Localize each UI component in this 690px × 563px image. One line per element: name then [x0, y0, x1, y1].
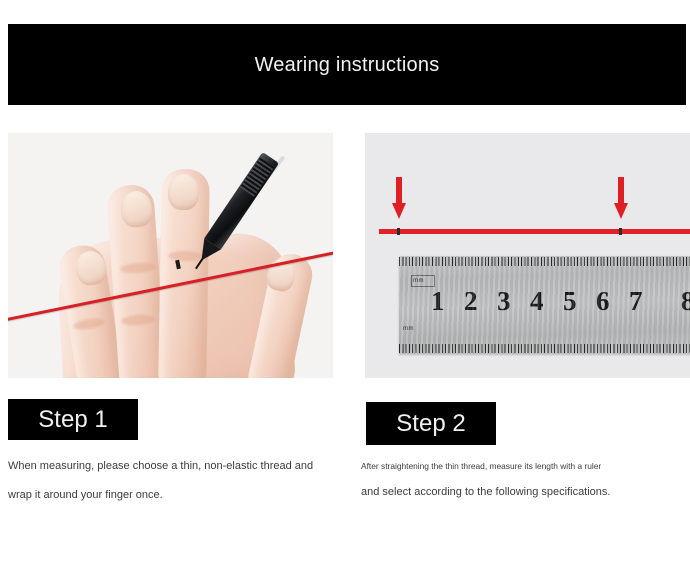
step-2-label: Step 2: [396, 412, 465, 436]
fingernail-ring: [168, 174, 200, 211]
ruler-ticks-bottom: [399, 336, 690, 353]
ruler-number: 8: [681, 286, 690, 317]
steel-ruler: mm mm 1 2 3 4 5 6 7 8: [399, 256, 690, 354]
ruler-number: 1: [431, 286, 445, 317]
pencil-tip: [195, 258, 203, 269]
hand-with-thread-photo: [8, 133, 333, 378]
straightened-red-thread: [379, 229, 690, 234]
thread-end-mark-left: [397, 228, 400, 235]
ruler-unit-label-top: mm: [413, 278, 424, 284]
ruler-number: 7: [629, 286, 643, 317]
ruler-number: 5: [563, 286, 577, 317]
step-2-text-line-2: and select according to the following sp…: [361, 486, 610, 498]
thread-end-mark-right: [619, 228, 622, 235]
step-2-text-line-1: After straightening the thin thread, mea…: [361, 461, 601, 471]
step-2-image-panel: mm mm 1 2 3 4 5 6 7 8: [365, 133, 690, 378]
arrow-head: [392, 203, 406, 219]
ruler-number: 4: [530, 286, 544, 317]
arrow-head: [614, 203, 628, 219]
arrow-shaft: [618, 177, 624, 205]
step-1-text-line-2: wrap it around your finger once.: [8, 489, 163, 501]
ruler-number: 2: [464, 286, 478, 317]
step-1-image-panel: [8, 133, 333, 378]
step-2-badge: Step 2: [366, 402, 496, 445]
arrow-down-icon-left: [392, 177, 406, 221]
ruler-number: 3: [497, 286, 511, 317]
ruler-number: 6: [596, 286, 610, 317]
page-title: Wearing instructions: [255, 55, 440, 75]
step-1-text-line-1: When measuring, please choose a thin, no…: [8, 460, 313, 472]
ruler-measuring-thread-photo: mm mm 1 2 3 4 5 6 7 8: [365, 133, 690, 378]
ruler-ticks-top: [399, 257, 690, 274]
arrow-shaft: [396, 177, 402, 205]
step-1-label: Step 1: [38, 408, 107, 432]
ruler-number-scale: 1 2 3 4 5 6 7 8: [399, 286, 690, 328]
wearing-instructions-banner: Wearing instructions: [8, 24, 686, 105]
arrow-down-icon-right: [614, 177, 628, 221]
step-1-badge: Step 1: [8, 399, 138, 440]
